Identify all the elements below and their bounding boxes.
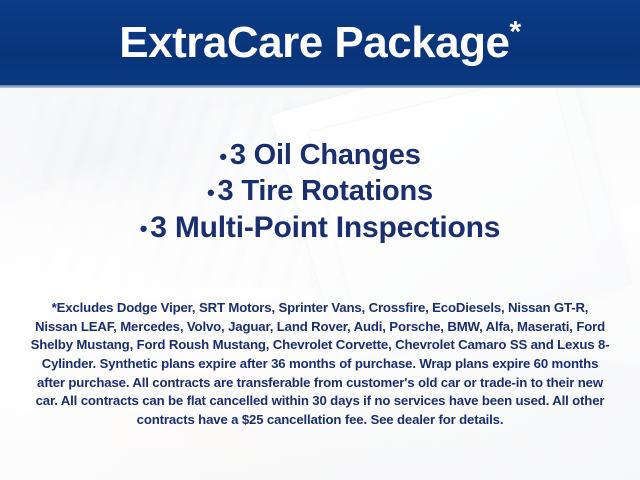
bullet-icon: •	[140, 216, 151, 241]
disclaimer-text: *Excludes Dodge Viper, SRT Motors, Sprin…	[30, 299, 610, 429]
bullet-icon: •	[207, 180, 218, 205]
benefit-item-1-label: 3 Oil Changes	[230, 139, 421, 171]
benefit-item-3-label: 3 Multi-Point Inspections	[150, 211, 500, 244]
benefits-list: •3 Oil Changes •3 Tire Rotations •3 Mult…	[0, 138, 640, 246]
benefit-item-2: •3 Tire Rotations	[0, 174, 640, 210]
benefit-item-3: •3 Multi-Point Inspections	[0, 210, 640, 247]
header-underline	[0, 85, 640, 88]
benefit-item-2-label: 3 Tire Rotations	[218, 175, 433, 207]
benefit-item-1: •3 Oil Changes	[0, 138, 640, 174]
page-title-asterisk: *	[510, 15, 521, 48]
header-band: ExtraCare Package*	[0, 0, 640, 88]
page-title-text: ExtraCare Package	[119, 18, 509, 67]
bullet-icon: •	[219, 144, 230, 169]
page-title: ExtraCare Package*	[119, 21, 520, 68]
extracare-package-ad: ExtraCare Package* •3 Oil Changes •3 Tir…	[0, 0, 640, 480]
